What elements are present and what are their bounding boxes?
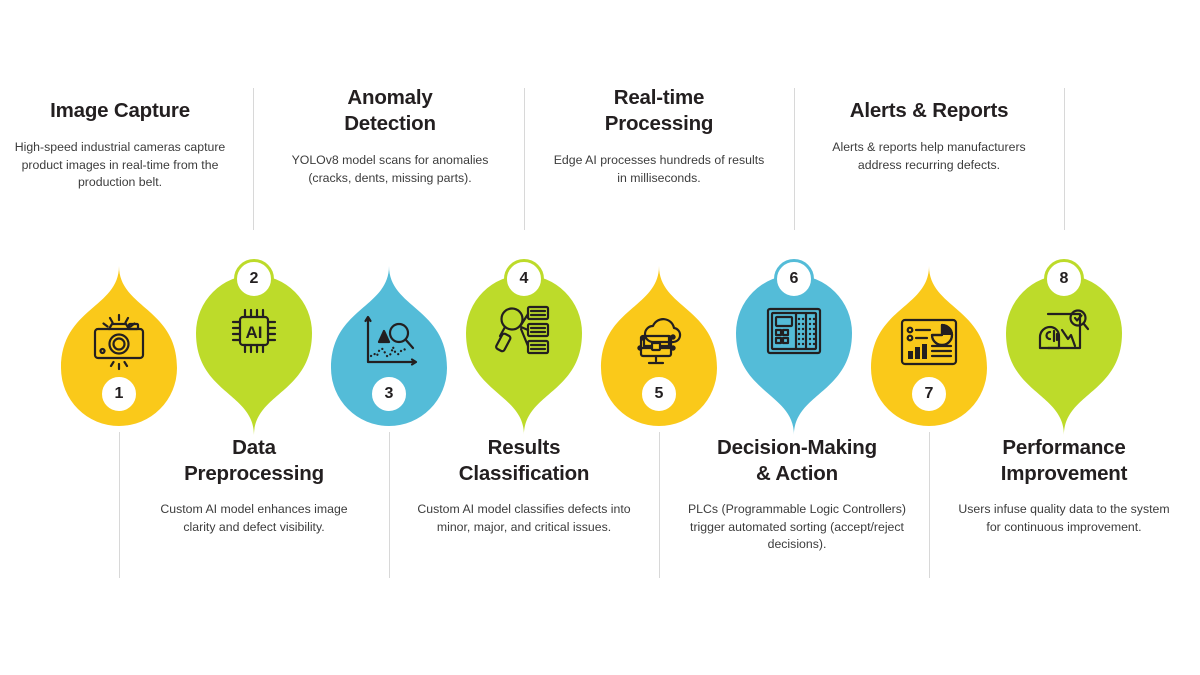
step-text-4: Results Classification Custom AI model c… [413,435,635,536]
step-text-5: Real-time Processing Edge AI processes h… [548,85,770,187]
step-description-6: PLCs (Programmable Logic Controllers) tr… [679,501,915,554]
step-description-3: YOLOv8 model scans for anomalies (cracks… [279,152,501,187]
step-title-1: Image Capture [9,98,231,124]
divider-bottom-2 [389,432,390,578]
step-badge-6[interactable]: 6 [774,259,814,299]
step-badge-5[interactable]: 5 [639,374,679,414]
step-node-3[interactable]: 3 [329,254,449,414]
step-badge-2[interactable]: 2 [234,259,274,299]
step-title-5: Real-time Processing [548,85,770,137]
step-text-6: Decision-Making & Action PLCs (Programma… [679,435,915,554]
step-text-1: Image Capture High-speed industrial came… [9,98,231,192]
step-title-8: Performance Improvement [951,435,1177,487]
divider-bottom-1 [119,432,120,578]
step-number-1: 1 [115,386,124,402]
step-number-2: 2 [250,271,259,287]
divider-top-1 [253,88,254,230]
step-title-3: Anomaly Detection [279,85,501,137]
divider-top-4 [1064,88,1065,230]
step-number-6: 6 [790,271,799,287]
step-badge-7[interactable]: 7 [909,374,949,414]
svg-text:AI: AI [246,323,263,342]
step-badge-3[interactable]: 3 [369,374,409,414]
divider-bottom-3 [659,432,660,578]
step-title-6: Decision-Making & Action [679,435,915,487]
step-node-5[interactable]: 5 [599,254,719,414]
step-description-1: High-speed industrial cameras capture pr… [9,139,231,192]
step-number-3: 3 [385,386,394,402]
step-text-8: Performance Improvement Users infuse qua… [951,435,1177,536]
step-text-3: Anomaly Detection YOLOv8 model scans for… [279,85,501,187]
step-node-8[interactable]: 8 [1004,259,1124,419]
infographic-canvas: Image Capture High-speed industrial came… [0,0,1200,675]
step-number-7: 7 [925,386,934,402]
step-number-4: 4 [520,271,529,287]
step-text-7: Alerts & Reports Alerts & reports help m… [816,98,1042,174]
step-node-6[interactable]: 6 [734,259,854,419]
step-badge-4[interactable]: 4 [504,259,544,299]
step-node-4[interactable]: 4 [464,259,584,419]
step-description-7: Alerts & reports help manufacturers addr… [816,139,1042,174]
step-badge-1[interactable]: 1 [99,374,139,414]
step-badge-8[interactable]: 8 [1044,259,1084,299]
step-title-4: Results Classification [413,435,635,487]
step-node-2[interactable]: AI 2 [194,259,314,419]
step-node-1[interactable]: 1 [59,254,179,414]
step-description-5: Edge AI processes hundreds of results in… [548,152,770,187]
divider-top-2 [524,88,525,230]
step-text-2: Data Preprocessing Custom AI model enhan… [143,435,365,536]
divider-top-3 [794,88,795,230]
divider-bottom-4 [929,432,930,578]
step-description-8: Users infuse quality data to the system … [951,501,1177,536]
step-title-7: Alerts & Reports [816,98,1042,124]
step-title-2: Data Preprocessing [143,435,365,487]
step-number-8: 8 [1060,271,1069,287]
step-description-4: Custom AI model classifies defects into … [413,501,635,536]
step-number-5: 5 [655,386,664,402]
step-description-2: Custom AI model enhances image clarity a… [143,501,365,536]
step-node-7[interactable]: 7 [869,254,989,414]
